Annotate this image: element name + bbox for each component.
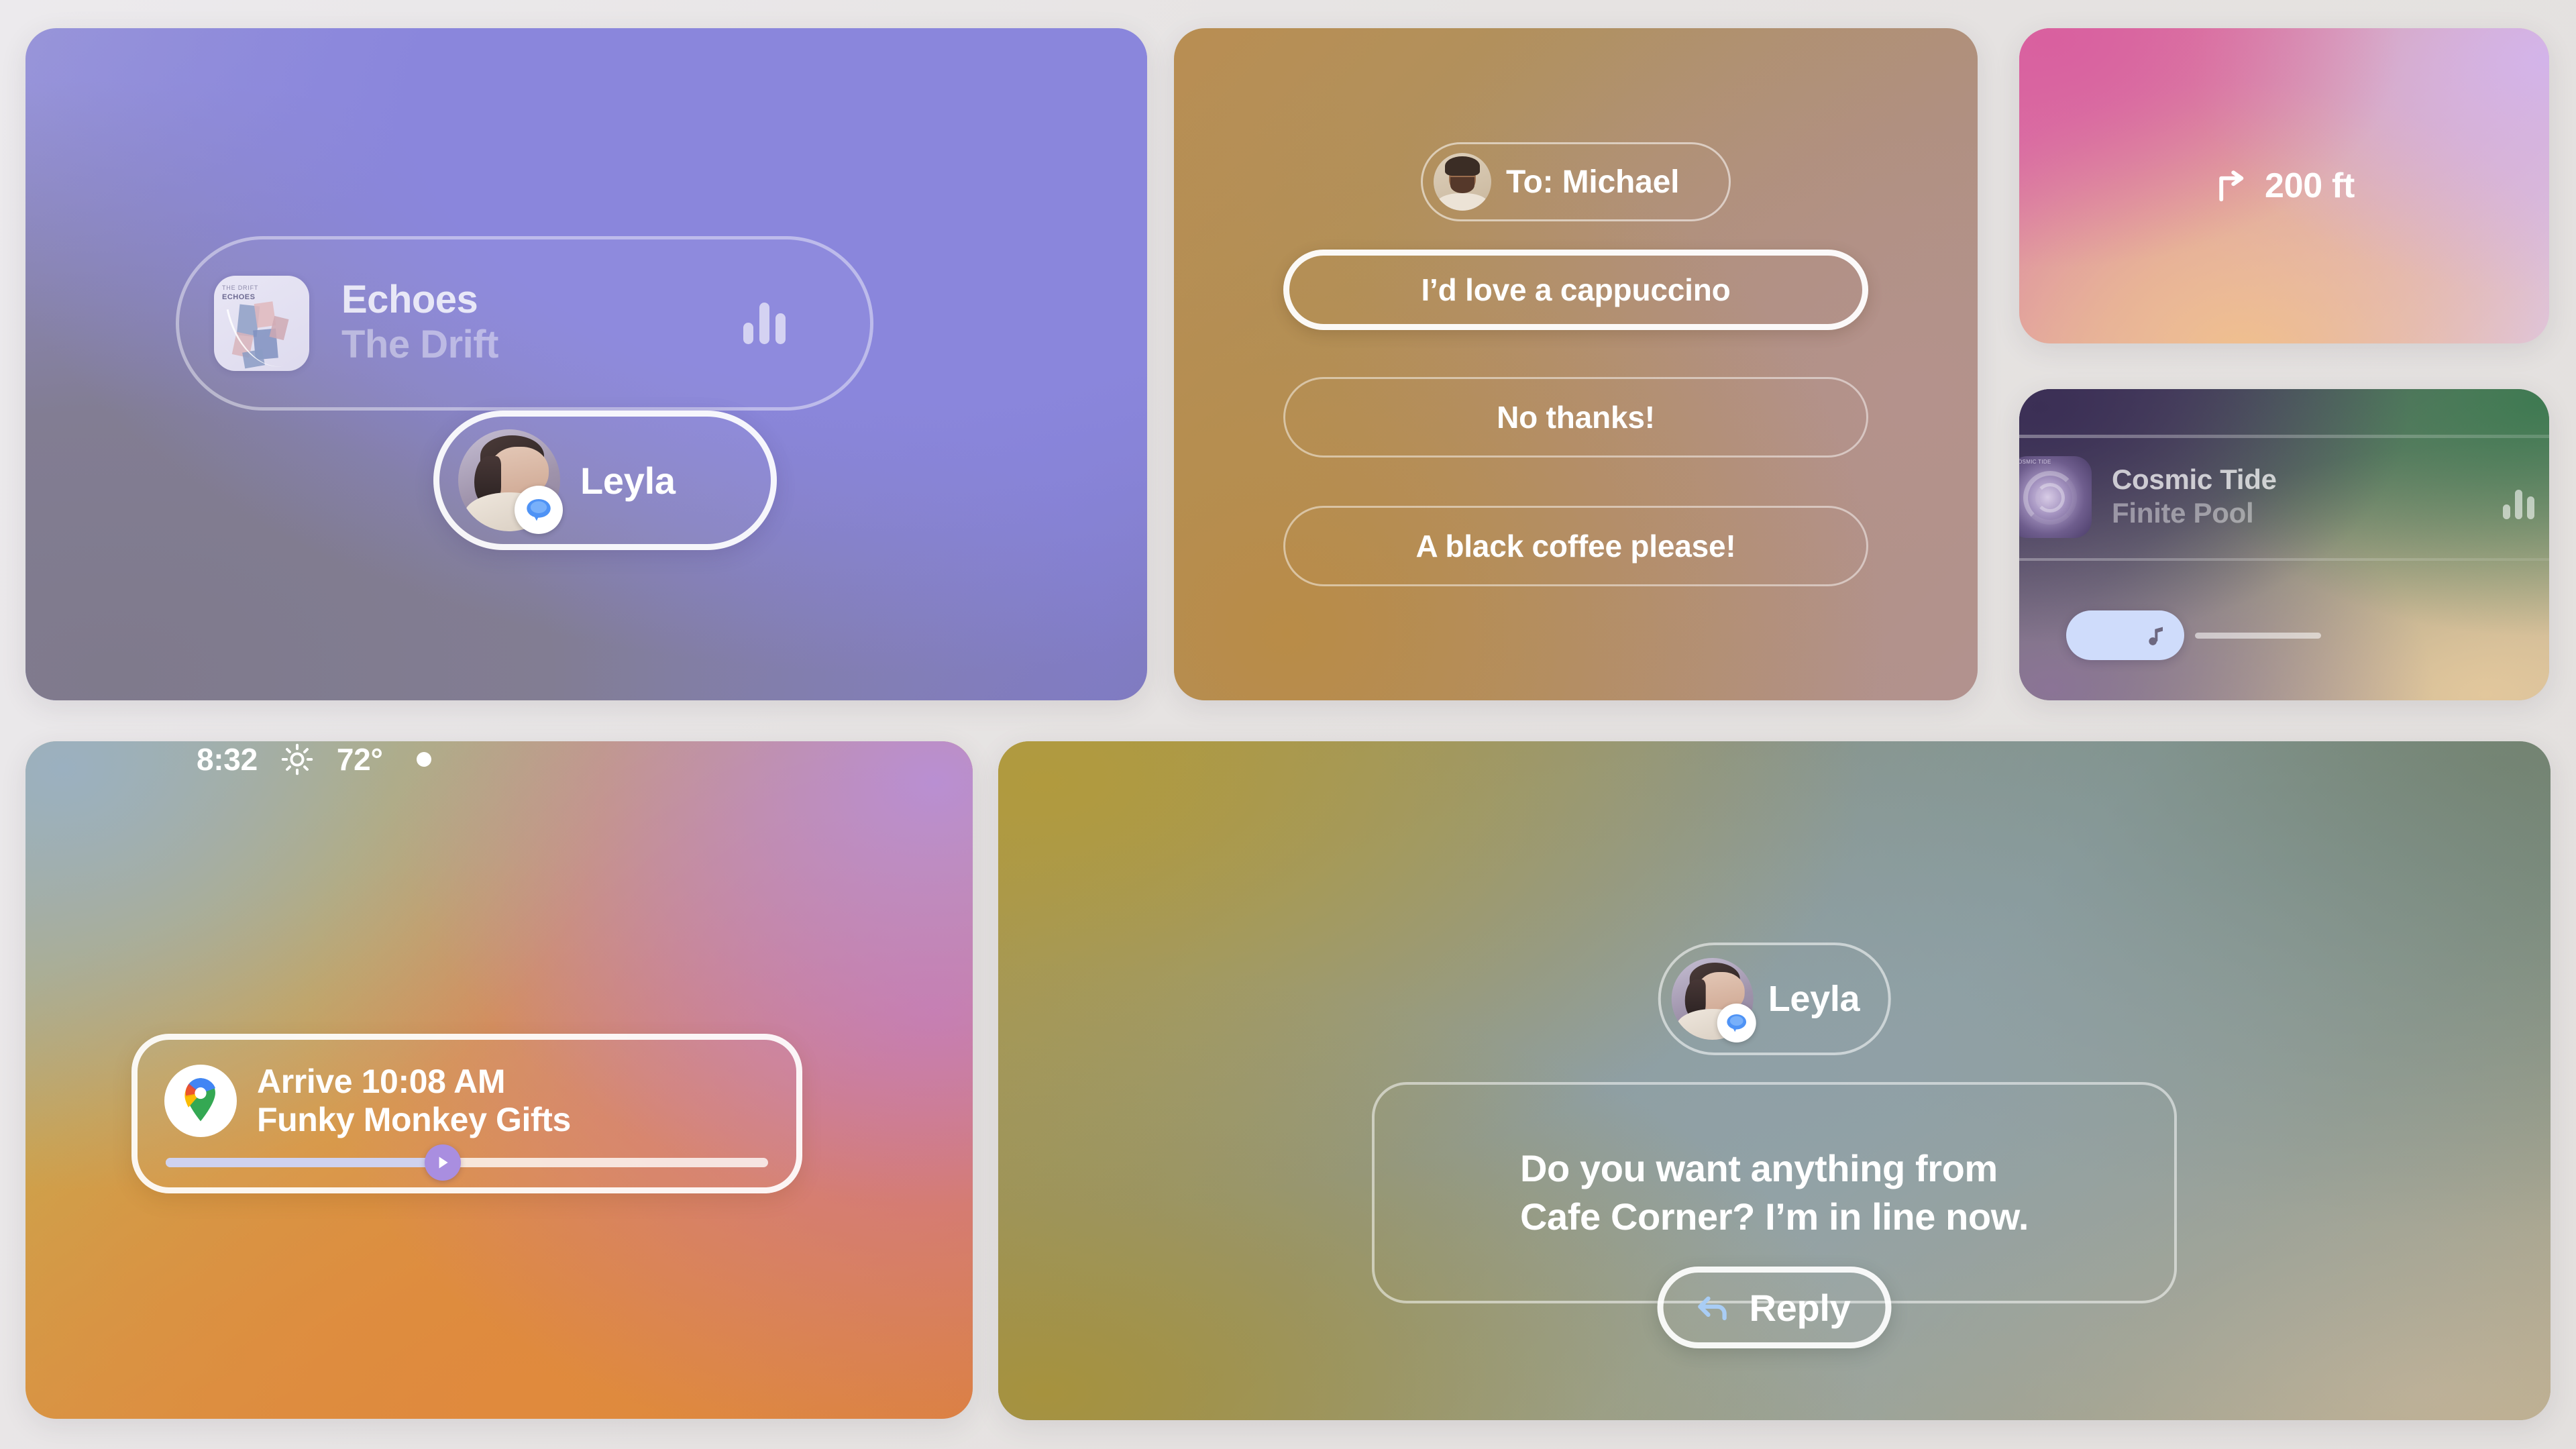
status-temperature: 72° bbox=[337, 741, 383, 777]
status-row: 8:32 72° bbox=[197, 741, 431, 777]
divider-top bbox=[2019, 435, 2549, 438]
route-progress-fill bbox=[166, 1158, 443, 1167]
album-art-line2: ECHOES bbox=[222, 293, 255, 301]
avatar bbox=[1672, 958, 1754, 1040]
equalizer-icon bbox=[2503, 490, 2534, 519]
navigation-arrow-icon[interactable] bbox=[425, 1144, 461, 1181]
track-artist: Finite Pool bbox=[2112, 496, 2277, 530]
card-navigation[interactable]: 200 ft bbox=[2019, 28, 2549, 343]
google-maps-pin-icon bbox=[164, 1065, 237, 1137]
status-time: 8:32 bbox=[197, 741, 258, 777]
playback-scrubber[interactable] bbox=[2066, 610, 2321, 660]
recipient-label: To: Michael bbox=[1506, 164, 1679, 201]
widget-board: THE DRIFT ECHOES Echoes The Drift bbox=[0, 0, 2576, 1449]
now-playing-pill[interactable]: THE DRIFT ECHOES Echoes The Drift bbox=[176, 236, 873, 411]
track-artist: The Drift bbox=[341, 323, 498, 367]
navigation-maneuver: 200 ft bbox=[2214, 166, 2355, 206]
turn-right-icon bbox=[2214, 168, 2250, 204]
cosmic-track-row: COSMIC TIDE Cosmic Tide Finite Pool bbox=[2019, 456, 2277, 538]
messages-badge-icon bbox=[1717, 1004, 1756, 1042]
card-arrival-eta[interactable]: Arrive 10:08 AM Funky Monkey Gifts 8:32 … bbox=[25, 741, 973, 1419]
arrival-eta: Arrive 10:08 AM bbox=[257, 1063, 571, 1100]
album-art-tag: COSMIC TIDE bbox=[2019, 460, 2051, 466]
contact-chip-leyla[interactable]: Leyla bbox=[433, 411, 777, 550]
sender-name: Leyla bbox=[1768, 978, 1860, 1020]
smart-reply-option-label: A black coffee please! bbox=[1415, 528, 1735, 564]
track-title: Echoes bbox=[341, 280, 498, 321]
card-background bbox=[1174, 28, 1978, 700]
card-music-player-cosmic[interactable]: COSMIC TIDE Cosmic Tide Finite Pool bbox=[2019, 389, 2549, 700]
recipient-chip[interactable]: To: Michael bbox=[1421, 142, 1731, 221]
now-playing-meta: Echoes The Drift bbox=[341, 280, 498, 367]
smart-reply-option-label: I’d love a cappuccino bbox=[1421, 272, 1730, 308]
status-dot-icon bbox=[417, 752, 431, 767]
smart-reply-option-2[interactable]: A black coffee please! bbox=[1283, 506, 1868, 586]
arrival-panel[interactable]: Arrive 10:08 AM Funky Monkey Gifts bbox=[131, 1034, 802, 1193]
avatar-michael bbox=[1434, 153, 1491, 211]
avatar bbox=[458, 429, 560, 531]
messages-badge-icon bbox=[515, 486, 563, 534]
album-art-line1: THE DRIFT bbox=[222, 284, 258, 291]
sender-chip[interactable]: Leyla bbox=[1658, 943, 1891, 1055]
smart-reply-option-1[interactable]: No thanks! bbox=[1283, 377, 1868, 458]
track-title: Cosmic Tide bbox=[2112, 464, 2277, 495]
cosmic-track-meta: Cosmic Tide Finite Pool bbox=[2112, 464, 2277, 530]
card-incoming-message[interactable]: Leyla Do you want anything from Cafe Cor… bbox=[998, 741, 2551, 1420]
album-art: THE DRIFT ECHOES bbox=[214, 276, 309, 371]
reply-button[interactable]: Reply bbox=[1658, 1267, 1892, 1348]
card-now-playing[interactable]: THE DRIFT ECHOES Echoes The Drift bbox=[25, 28, 1147, 700]
smart-reply-option-0[interactable]: I’d love a cappuccino bbox=[1283, 250, 1868, 330]
music-note-icon bbox=[2143, 622, 2169, 649]
divider-mid bbox=[2019, 558, 2549, 561]
arrival-text: Arrive 10:08 AM Funky Monkey Gifts bbox=[257, 1063, 571, 1139]
navigation-distance: 200 ft bbox=[2265, 166, 2355, 206]
card-smart-reply[interactable]: To: Michael I’d love a cappuccino No tha… bbox=[1174, 28, 1978, 700]
arrival-row: Arrive 10:08 AM Funky Monkey Gifts bbox=[164, 1063, 767, 1139]
message-body: Do you want anything from Cafe Corner? I… bbox=[1483, 1144, 2066, 1240]
route-progress-bar[interactable] bbox=[166, 1158, 768, 1167]
contact-name: Leyla bbox=[580, 459, 676, 502]
equalizer-icon bbox=[743, 303, 786, 344]
scrubber-fill[interactable] bbox=[2066, 610, 2184, 660]
reply-button-label: Reply bbox=[1750, 1286, 1851, 1330]
album-art: COSMIC TIDE bbox=[2019, 456, 2092, 538]
scrubber-track[interactable] bbox=[2195, 633, 2321, 639]
arrival-destination: Funky Monkey Gifts bbox=[257, 1100, 571, 1139]
sun-icon bbox=[280, 743, 314, 776]
smart-reply-option-label: No thanks! bbox=[1497, 399, 1655, 435]
reply-arrow-icon bbox=[1693, 1288, 1732, 1327]
